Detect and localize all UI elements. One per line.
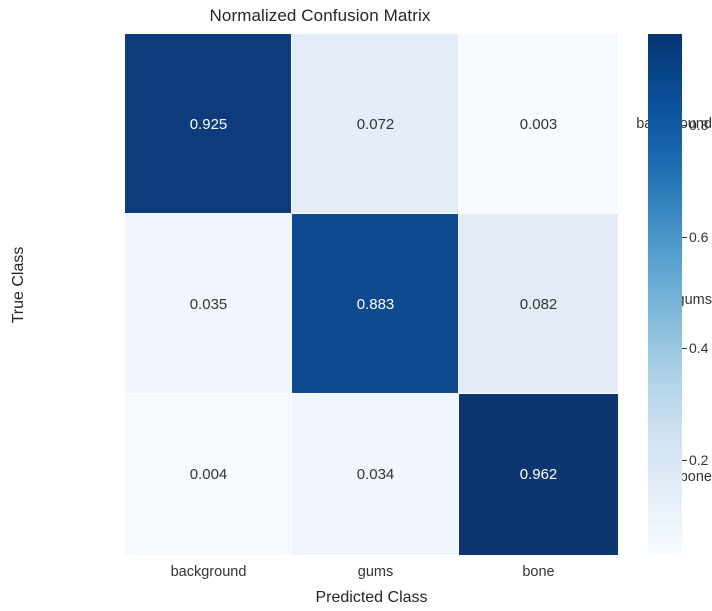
colorbar-tick-label: 0.2	[689, 453, 708, 467]
matrix-cell: 0.883	[292, 214, 459, 394]
matrix-cell: 0.082	[459, 214, 618, 394]
colorbar-tick-mark	[682, 237, 687, 238]
colorbar-tick-mark	[682, 460, 687, 461]
chart-title: Normalized Confusion Matrix	[0, 6, 640, 26]
x-tick-label-background: background	[125, 565, 292, 580]
colorbar-tick-label: 0.4	[689, 341, 708, 355]
confusion-matrix-heatmap: 0.925 0.072 0.003 0.035 0.883 0.082 0.00…	[125, 34, 618, 555]
x-axis-label: Predicted Class	[125, 589, 618, 607]
colorbar-tick-label: 0.8	[689, 118, 708, 132]
cell-value: 0.072	[357, 117, 395, 132]
cell-value: 0.004	[190, 467, 228, 482]
matrix-cell: 0.925	[125, 34, 292, 214]
matrix-cell: 0.003	[459, 34, 618, 214]
x-tick-label-gums: gums	[292, 565, 459, 580]
matrix-cell: 0.034	[292, 394, 459, 555]
cell-value: 0.962	[520, 467, 558, 482]
cell-value: 0.003	[520, 117, 558, 132]
colorbar-tick-label: 0.6	[689, 230, 708, 244]
matrix-cell: 0.962	[459, 394, 618, 555]
colorbar-gradient	[648, 34, 682, 555]
y-axis-label: True Class	[10, 185, 28, 385]
matrix-cell: 0.004	[125, 394, 292, 555]
colorbar-tick-mark	[682, 348, 687, 349]
x-tick-label-bone: bone	[459, 565, 618, 580]
cell-value: 0.034	[357, 467, 395, 482]
cell-value: 0.035	[190, 297, 228, 312]
cell-value: 0.883	[357, 297, 395, 312]
matrix-cell: 0.035	[125, 214, 292, 394]
cell-value: 0.082	[520, 297, 558, 312]
matrix-cell: 0.072	[292, 34, 459, 214]
colorbar-tick-mark	[682, 125, 687, 126]
cell-value: 0.925	[190, 117, 228, 132]
